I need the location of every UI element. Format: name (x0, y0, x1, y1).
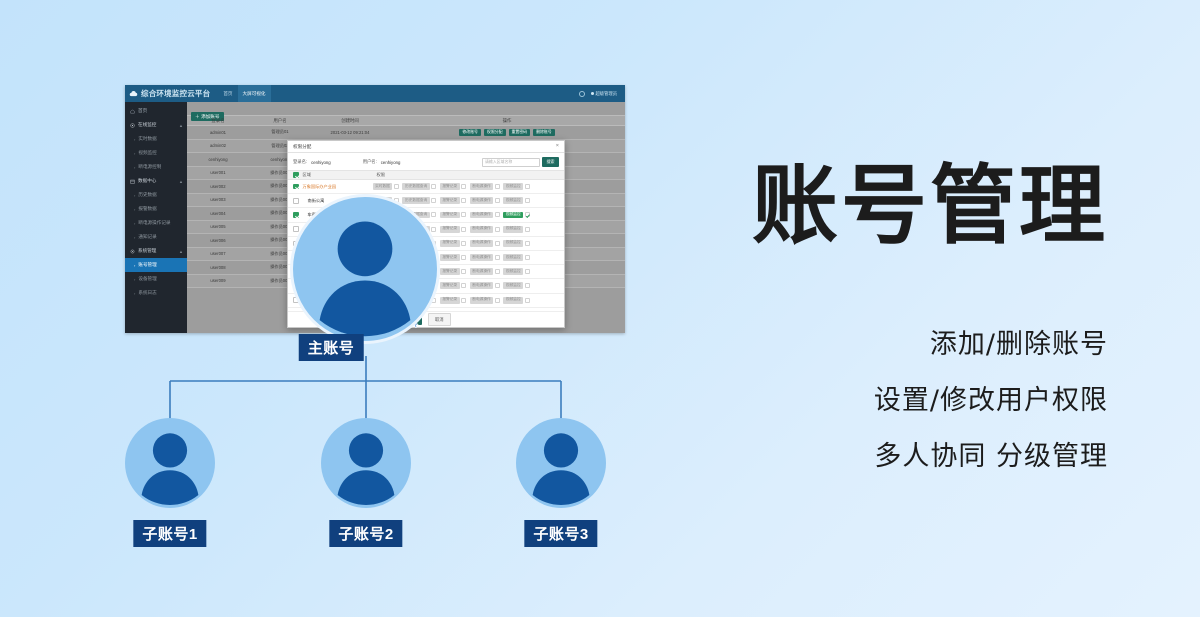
sub-account-1-avatar (125, 418, 215, 508)
person-icon (321, 418, 411, 508)
person-icon (516, 418, 606, 508)
org-diagram-panel: 综合环境监控云平台 首页 大屏可视化 超级管理员 首页 (0, 0, 640, 617)
page-title: 账号管理 (752, 163, 1108, 249)
sub-account-3-label: 子账号3 (524, 520, 597, 547)
sub-account-2-avatar (321, 418, 411, 508)
marketing-text-panel: 账号管理 添加/删除账号 设置/修改用户权限 多人协同 分级管理 (640, 0, 1200, 617)
main-account-avatar (290, 194, 440, 344)
sub-account-3-avatar (516, 418, 606, 508)
feature-line-1: 添加/删除账号 (930, 322, 1108, 361)
person-icon (293, 197, 437, 341)
feature-line-2: 设置/修改用户权限 (874, 378, 1108, 417)
feature-line-3: 多人协同 分级管理 (874, 434, 1108, 473)
main-account-label: 主账号 (299, 334, 364, 361)
person-icon (125, 418, 215, 508)
sub-account-1-label: 子账号1 (133, 520, 206, 547)
sub-account-2-label: 子账号2 (329, 520, 402, 547)
